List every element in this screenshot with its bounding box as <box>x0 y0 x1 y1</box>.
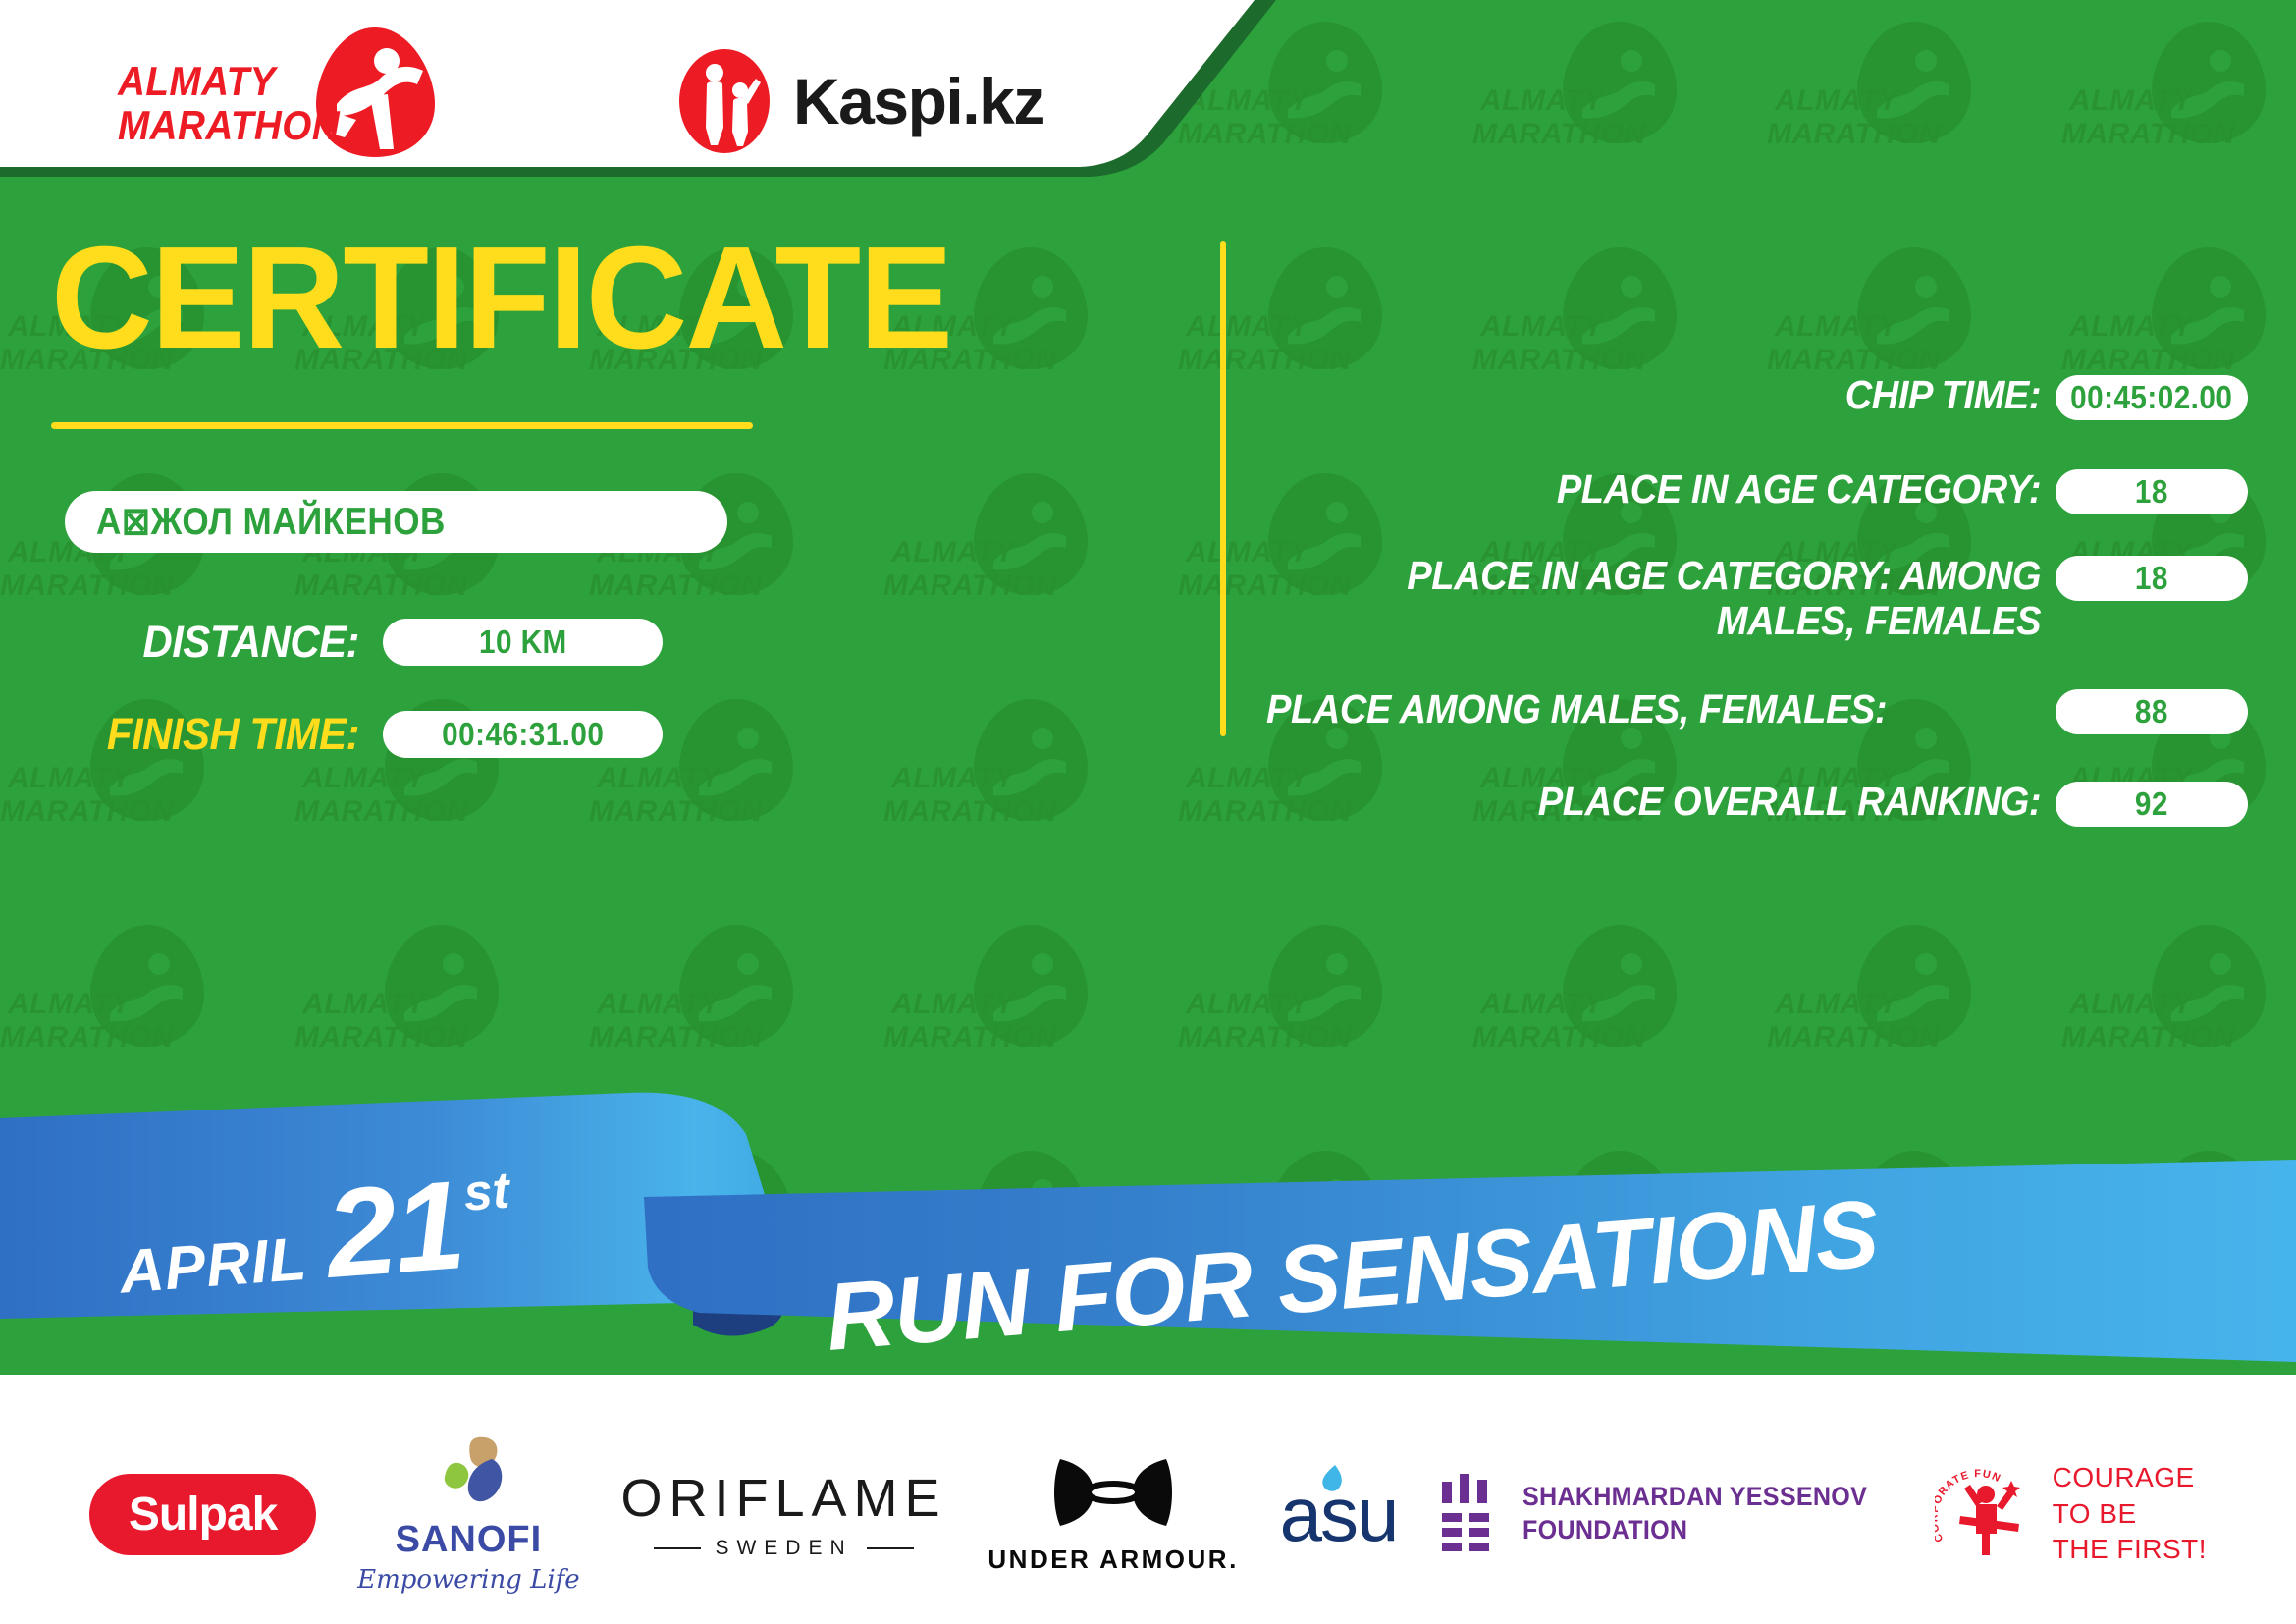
finish-time-value: 00:46:31.00 <box>442 716 604 753</box>
place-overall-row: PLACE OVERALL RANKING: 92 <box>1266 780 2248 827</box>
place-among-gender-label: PLACE AMONG MALES, FEMALES: <box>1266 687 2001 732</box>
courage-wordmark: COURAGE TO BE THE FIRST! <box>2053 1460 2207 1567</box>
oriflame-logo: ORIFLAME SWEDEN <box>621 1468 947 1560</box>
kaspi-logo: Kaspi.kz <box>677 47 1044 155</box>
under-armour-logo: UNDER ARMOUR. <box>988 1453 1238 1575</box>
finish-time-label: FINISH TIME: <box>85 709 359 760</box>
place-age-category-row: PLACE IN AGE CATEGORY: 18 <box>1266 467 2248 514</box>
yessenov-wordmark: SHAKHMARDAN YESSENOV FOUNDATION <box>1522 1481 1867 1547</box>
event-day-suffix: st <box>461 1161 511 1222</box>
courage-line2: TO BE <box>2053 1496 2207 1532</box>
kaspi-figures-icon <box>677 47 772 155</box>
under-armour-wordmark: UNDER ARMOUR. <box>988 1544 1238 1575</box>
sponsor-courage: CORPORATE FUND COURAGE TO BE THE FIRST! <box>1935 1460 2207 1567</box>
chip-time-pill: 00:45:02.00 <box>2056 375 2248 420</box>
place-overall-label: PLACE OVERALL RANKING: <box>1321 780 2056 825</box>
place-age-category-label: PLACE IN AGE CATEGORY: <box>1321 467 2056 513</box>
place-age-category-gender-value: 18 <box>2135 560 2168 597</box>
yessenov-line2: FOUNDATION <box>1522 1514 1867 1547</box>
event-month: APRIL <box>118 1224 310 1308</box>
participant-name-field: А⊠ЖОЛ МАЙКЕНОВ <box>65 491 727 553</box>
header-logos: ALMATY MARATHON Kaspi.kz <box>0 0 1178 189</box>
sanofi-tagline: Empowering Life <box>357 1565 580 1595</box>
distance-value: 10 KM <box>479 623 567 661</box>
place-overall-pill: 92 <box>2056 782 2248 827</box>
asu-logo: asu <box>1280 1470 1398 1559</box>
place-among-gender-row: PLACE AMONG MALES, FEMALES: 88 <box>1266 687 2248 734</box>
sanofi-mark-icon <box>423 1434 513 1510</box>
sponsor-asu: asu <box>1280 1470 1398 1559</box>
chip-time-row: CHIP TIME: 00:45:02.00 <box>1266 373 2248 420</box>
sponsor-sulpak: Sulpak <box>89 1474 316 1555</box>
courage-line3: THE FIRST! <box>2053 1532 2207 1567</box>
place-among-gender-pill: 88 <box>2056 689 2248 734</box>
place-age-category-gender-pill: 18 <box>2056 556 2248 601</box>
column-divider <box>1220 241 1226 736</box>
sponsor-yessenov: SHAKHMARDAN YESSENOV FOUNDATION <box>1438 1472 1894 1556</box>
place-age-category-gender-row: PLACE IN AGE CATEGORY: AMONG MALES, FEMA… <box>1266 554 2248 644</box>
oriflame-rule-left <box>654 1547 701 1549</box>
chip-time-label: CHIP TIME: <box>1321 373 2056 418</box>
place-age-category-gender-label: PLACE IN AGE CATEGORY: AMONG MALES, FEMA… <box>1321 554 2056 644</box>
place-among-gender-value: 88 <box>2135 693 2168 731</box>
yessenov-line1: SHAKHMARDAN YESSENOV <box>1522 1481 1867 1514</box>
kaspi-wordmark: Kaspi.kz <box>793 64 1044 138</box>
courage-line1: COURAGE <box>2053 1460 2207 1495</box>
place-age-category-pill: 18 <box>2056 469 2248 514</box>
marathon-line: MARATHON <box>118 103 340 147</box>
event-ribbon: APRIL 21 st RUN FOR SENSATIONS <box>0 1075 2296 1409</box>
title-divider <box>51 422 753 429</box>
asu-droplet-icon <box>1319 1464 1345 1495</box>
sanofi-logo: SANOFI Empowering Life <box>357 1434 580 1595</box>
place-overall-value: 92 <box>2135 785 2168 823</box>
yessenov-logo: SHAKHMARDAN YESSENOV FOUNDATION <box>1438 1472 1894 1556</box>
event-day: 21 <box>322 1163 466 1298</box>
almaty-marathon-wordmark: ALMATY MARATHON <box>118 59 340 148</box>
left-column: CERTIFICATE А⊠ЖОЛ МАЙКЕНОВ DISTANCE: 10 … <box>0 226 1207 760</box>
place-age-category-value: 18 <box>2135 473 2168 511</box>
courage-logo: CORPORATE FUND COURAGE TO BE THE FIRST! <box>1935 1460 2207 1567</box>
almaty-line: ALMATY <box>118 59 340 103</box>
chip-time-value: 00:45:02.00 <box>2070 379 2232 416</box>
sulpak-wordmark: Sulpak <box>129 1489 277 1541</box>
participant-name-value: А⊠ЖОЛ МАЙКЕНОВ <box>96 500 446 544</box>
sponsor-bar: Sulpak SANOFI Empowering Life ORIFLAME S… <box>0 1404 2296 1624</box>
oriflame-rule-right <box>867 1547 914 1549</box>
certificate-page: ALMATY MARATHON ALMATY <box>0 0 2296 1624</box>
sanofi-wordmark: SANOFI <box>357 1519 580 1561</box>
oriflame-sub: SWEDEN <box>621 1537 947 1560</box>
distance-row: DISTANCE: 10 KM <box>65 617 1207 668</box>
sulpak-logo: Sulpak <box>89 1474 316 1555</box>
finish-time-pill: 00:46:31.00 <box>383 711 663 758</box>
right-column: CHIP TIME: 00:45:02.00 PLACE IN AGE CATE… <box>1266 373 2248 868</box>
almaty-marathon-logo: ALMATY MARATHON <box>118 31 442 164</box>
distance-label: DISTANCE: <box>85 617 359 668</box>
sponsor-under-armour: UNDER ARMOUR. <box>988 1453 1238 1575</box>
oriflame-wordmark: ORIFLAME <box>621 1468 947 1529</box>
sponsor-oriflame: ORIFLAME SWEDEN <box>621 1468 947 1560</box>
oriflame-sweden: SWEDEN <box>715 1537 852 1560</box>
page-title: CERTIFICATE <box>51 226 1173 371</box>
distance-pill: 10 KM <box>383 619 663 666</box>
courage-runner-icon: CORPORATE FUND <box>1935 1463 2037 1565</box>
finish-time-row: FINISH TIME: 00:46:31.00 <box>65 709 1207 760</box>
under-armour-mark-icon <box>1050 1453 1176 1532</box>
sponsor-sanofi: SANOFI Empowering Life <box>357 1434 580 1595</box>
yessenov-bars-icon <box>1438 1472 1499 1556</box>
